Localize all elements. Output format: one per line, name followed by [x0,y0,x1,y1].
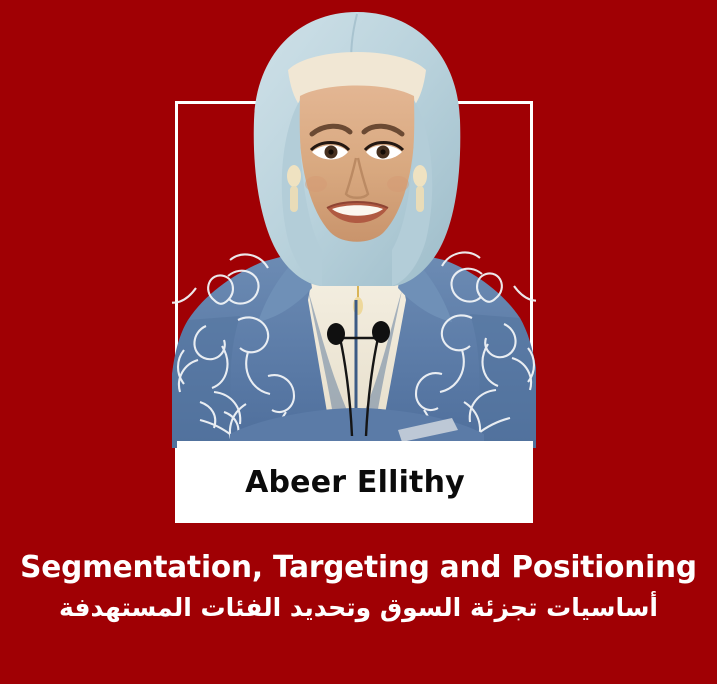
title-block: Segmentation, Targeting and Positioning … [0,548,717,626]
course-title-poster: Abeer Ellithy Segmentation, Targeting an… [0,0,717,684]
speaker-name-plate: Abeer Ellithy [177,441,533,523]
course-title-arabic: أساسيات تجزئة السوق وتحديد الفئات المسته… [0,590,717,626]
course-title-english: Segmentation, Targeting and Positioning [5,548,711,588]
speaker-name: Abeer Ellithy [245,465,465,500]
